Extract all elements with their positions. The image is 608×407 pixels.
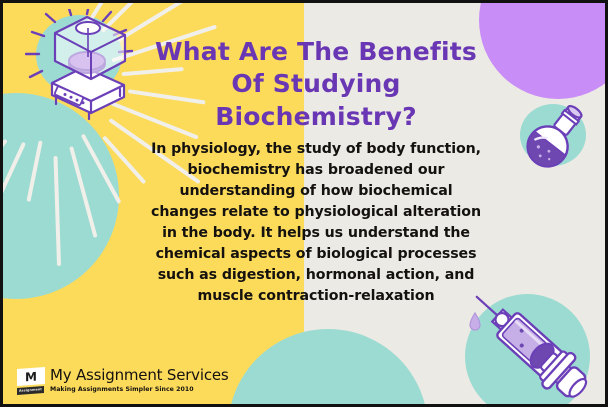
analytical-balance-scale-icon <box>25 9 145 131</box>
logo-badge-text: Assignment <box>17 386 44 395</box>
infographic-poster: What Are The Benefits Of Studying Bioche… <box>0 0 608 407</box>
brand-logo[interactable]: M Assignment My Assignment Services Maki… <box>17 368 229 394</box>
logo-text-block: My Assignment Services Making Assignment… <box>50 368 229 393</box>
logo-letter: M <box>25 370 37 383</box>
page-title: What Are The Benefits Of Studying Bioche… <box>151 36 481 134</box>
brand-name: My Assignment Services <box>50 368 229 384</box>
erlenmeyer-flask-icon <box>519 101 591 177</box>
brand-tagline: Making Assignments Simpler Since 2010 <box>50 386 229 393</box>
logo-mark-icon: M Assignment <box>17 368 45 394</box>
logo-badge-bar: Assignment <box>17 386 44 395</box>
teal-circle-bottom <box>228 329 428 404</box>
body-paragraph: In physiology, the study of body functio… <box>151 139 481 307</box>
purple-circle-top-right <box>479 3 605 99</box>
logo-letter-tile: M <box>17 367 45 386</box>
